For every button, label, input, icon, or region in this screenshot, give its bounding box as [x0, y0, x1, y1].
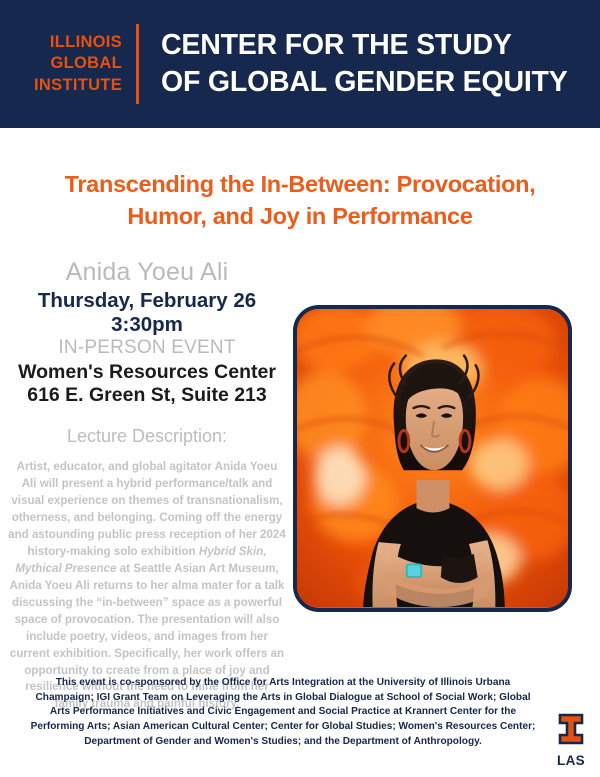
event-poster: ILLINOIS GLOBAL INSTITUTE CENTER FOR THE… — [0, 0, 600, 777]
logo-line-2: GLOBAL — [0, 53, 122, 74]
venue-name: Women's Resources Center — [8, 361, 286, 384]
poster-header: ILLINOIS GLOBAL INSTITUTE CENTER FOR THE… — [0, 0, 600, 128]
venue-address: 616 E. Green St, Suite 213 — [8, 384, 286, 407]
event-title-line-1: Transcending the In-Between: Provocation… — [18, 168, 582, 200]
illinois-block-i-icon — [556, 712, 586, 746]
las-label: LAS — [552, 753, 590, 768]
event-time: 3:30pm — [8, 313, 286, 337]
logo-line-1: ILLINOIS — [0, 32, 122, 53]
center-name-line-2: OF GLOBAL GENDER EQUITY — [161, 64, 568, 101]
sponsor-text: This event is co-sponsored by the Office… — [28, 676, 538, 749]
illinois-global-institute-logo: ILLINOIS GLOBAL INSTITUTE — [0, 32, 136, 95]
logo-line-3: INSTITUTE — [0, 75, 122, 96]
center-name-line-1: CENTER FOR THE STUDY — [161, 27, 568, 64]
lecture-description-heading: Lecture Description: — [8, 426, 286, 448]
speaker-name: Anida Yoeu Ali — [8, 258, 286, 287]
event-title: Transcending the In-Between: Provocation… — [0, 168, 600, 233]
event-date: Thursday, February 26 — [8, 289, 286, 313]
center-name: CENTER FOR THE STUDY OF GLOBAL GENDER EQ… — [139, 27, 568, 101]
speaker-portrait-image — [297, 309, 568, 607]
event-title-line-2: Humor, and Joy in Performance — [18, 200, 582, 232]
event-details-column: Anida Yoeu Ali Thursday, February 26 3:3… — [8, 258, 286, 713]
description-part-1: Artist, educator, and global agitator An… — [8, 460, 286, 558]
event-mode: IN-PERSON EVENT — [8, 337, 286, 360]
las-logo: LAS — [552, 712, 590, 768]
speaker-photo — [293, 305, 572, 612]
